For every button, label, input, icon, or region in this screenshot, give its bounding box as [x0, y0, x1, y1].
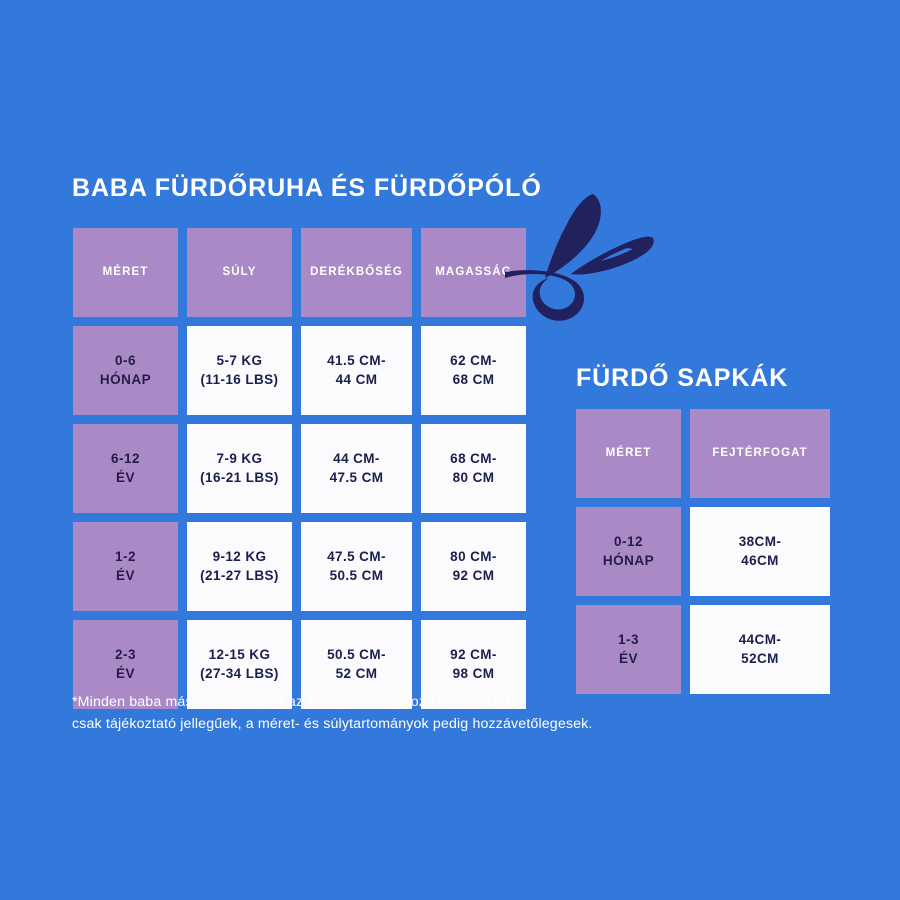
- cell-line: 80 CM: [450, 469, 497, 487]
- cell-line: 38CM-: [739, 533, 782, 551]
- table-row: 6-12 ÉV: [73, 424, 178, 513]
- cell-line: 47.5 CM: [330, 469, 384, 487]
- table-row: 80 CM- 92 CM: [421, 522, 526, 611]
- table-row: 1-2 ÉV: [73, 522, 178, 611]
- table-header-derekboseg: DERÉKBŐSÉG: [301, 228, 412, 317]
- table-header-fejterfogat: FEJTÉRFOGAT: [690, 409, 830, 498]
- footnote-line-2: csak tájékoztató jellegűek, a méret- és …: [72, 713, 772, 735]
- cell-line: ÉV: [618, 650, 639, 668]
- cell-line: 47.5 CM-: [327, 548, 386, 566]
- cell-line: (27-34 LBS): [200, 665, 279, 683]
- cell-line: HÓNAP: [100, 371, 151, 389]
- cell-line: 52CM: [739, 650, 782, 668]
- cell-line: 50.5 CM-: [327, 646, 386, 664]
- caps-size-table: MÉRET FEJTÉRFOGAT 0-12 HÓNAP 38CM- 46CM …: [576, 409, 830, 694]
- cell-line: 44 CM-: [330, 450, 384, 468]
- table-row: 1-3 ÉV: [576, 605, 681, 694]
- cell-line: 6-12: [111, 450, 140, 468]
- footnote-line-1: *Minden baba más és más, ezért az életko…: [72, 691, 772, 713]
- table-row: 62 CM- 68 CM: [421, 326, 526, 415]
- cell-line: 0-6: [100, 352, 151, 370]
- cell-line: 68 CM-: [450, 450, 497, 468]
- cell-line: 62 CM-: [450, 352, 497, 370]
- table-header-suly: SÚLY: [187, 228, 292, 317]
- table-row: 0-12 HÓNAP: [576, 507, 681, 596]
- header-label: MÉRET: [606, 446, 652, 462]
- water-splash-icon: [505, 186, 665, 326]
- table-row: 5-7 KG (11-16 LBS): [187, 326, 292, 415]
- table-row: 68 CM- 80 CM: [421, 424, 526, 513]
- header-label: SÚLY: [222, 265, 256, 281]
- cell-line: 92 CM: [450, 567, 497, 585]
- cell-line: ÉV: [115, 665, 136, 683]
- cell-line: 7-9 KG: [200, 450, 279, 468]
- cell-line: 44 CM: [327, 371, 386, 389]
- cell-line: 92 CM-: [450, 646, 497, 664]
- cell-line: (21-27 LBS): [200, 567, 279, 585]
- cell-line: 98 CM: [450, 665, 497, 683]
- cell-line: 41.5 CM-: [327, 352, 386, 370]
- table-header-meret: MÉRET: [576, 409, 681, 498]
- table-header-magassag: MAGASSÁG: [421, 228, 526, 317]
- cell-line: 80 CM-: [450, 548, 497, 566]
- footnote: *Minden baba más és más, ezért az életko…: [72, 691, 772, 735]
- cell-line: 9-12 KG: [200, 548, 279, 566]
- header-label: FEJTÉRFOGAT: [712, 446, 808, 462]
- cell-line: 2-3: [115, 646, 136, 664]
- table-row: 7-9 KG (16-21 LBS): [187, 424, 292, 513]
- table-row: 47.5 CM- 50.5 CM: [301, 522, 412, 611]
- table-row: 44CM- 52CM: [690, 605, 830, 694]
- swimwear-size-table: MÉRET SÚLY DERÉKBŐSÉG MAGASSÁG 0-6 HÓNAP…: [73, 228, 526, 709]
- cell-line: 0-12: [603, 533, 654, 551]
- swimwear-section-title: BABA FÜRDŐRUHA ÉS FÜRDŐPÓLÓ: [72, 176, 542, 201]
- cell-line: (16-21 LBS): [200, 469, 279, 487]
- cell-line: 12-15 KG: [200, 646, 279, 664]
- table-row: 38CM- 46CM: [690, 507, 830, 596]
- cell-line: 1-2: [115, 548, 136, 566]
- table-row: 44 CM- 47.5 CM: [301, 424, 412, 513]
- cell-line: 46CM: [739, 552, 782, 570]
- cell-line: 52 CM: [327, 665, 386, 683]
- cell-line: ÉV: [115, 567, 136, 585]
- table-row: 0-6 HÓNAP: [73, 326, 178, 415]
- caps-section-title: FÜRDŐ SAPKÁK: [576, 366, 788, 391]
- header-label: MÉRET: [103, 265, 149, 281]
- size-chart-canvas: BABA FÜRDŐRUHA ÉS FÜRDŐPÓLÓ MÉRET SÚLY D…: [0, 0, 900, 900]
- cell-line: HÓNAP: [603, 552, 654, 570]
- table-row: 9-12 KG (21-27 LBS): [187, 522, 292, 611]
- table-row: 41.5 CM- 44 CM: [301, 326, 412, 415]
- cell-line: 50.5 CM: [327, 567, 386, 585]
- header-label: MAGASSÁG: [435, 265, 512, 281]
- cell-line: (11-16 LBS): [201, 371, 279, 389]
- cell-line: 44CM-: [739, 631, 782, 649]
- cell-line: 68 CM: [450, 371, 497, 389]
- header-label: DERÉKBŐSÉG: [310, 265, 403, 281]
- cell-line: 1-3: [618, 631, 639, 649]
- cell-line: ÉV: [111, 469, 140, 487]
- table-header-meret: MÉRET: [73, 228, 178, 317]
- cell-line: 5-7 KG: [201, 352, 279, 370]
